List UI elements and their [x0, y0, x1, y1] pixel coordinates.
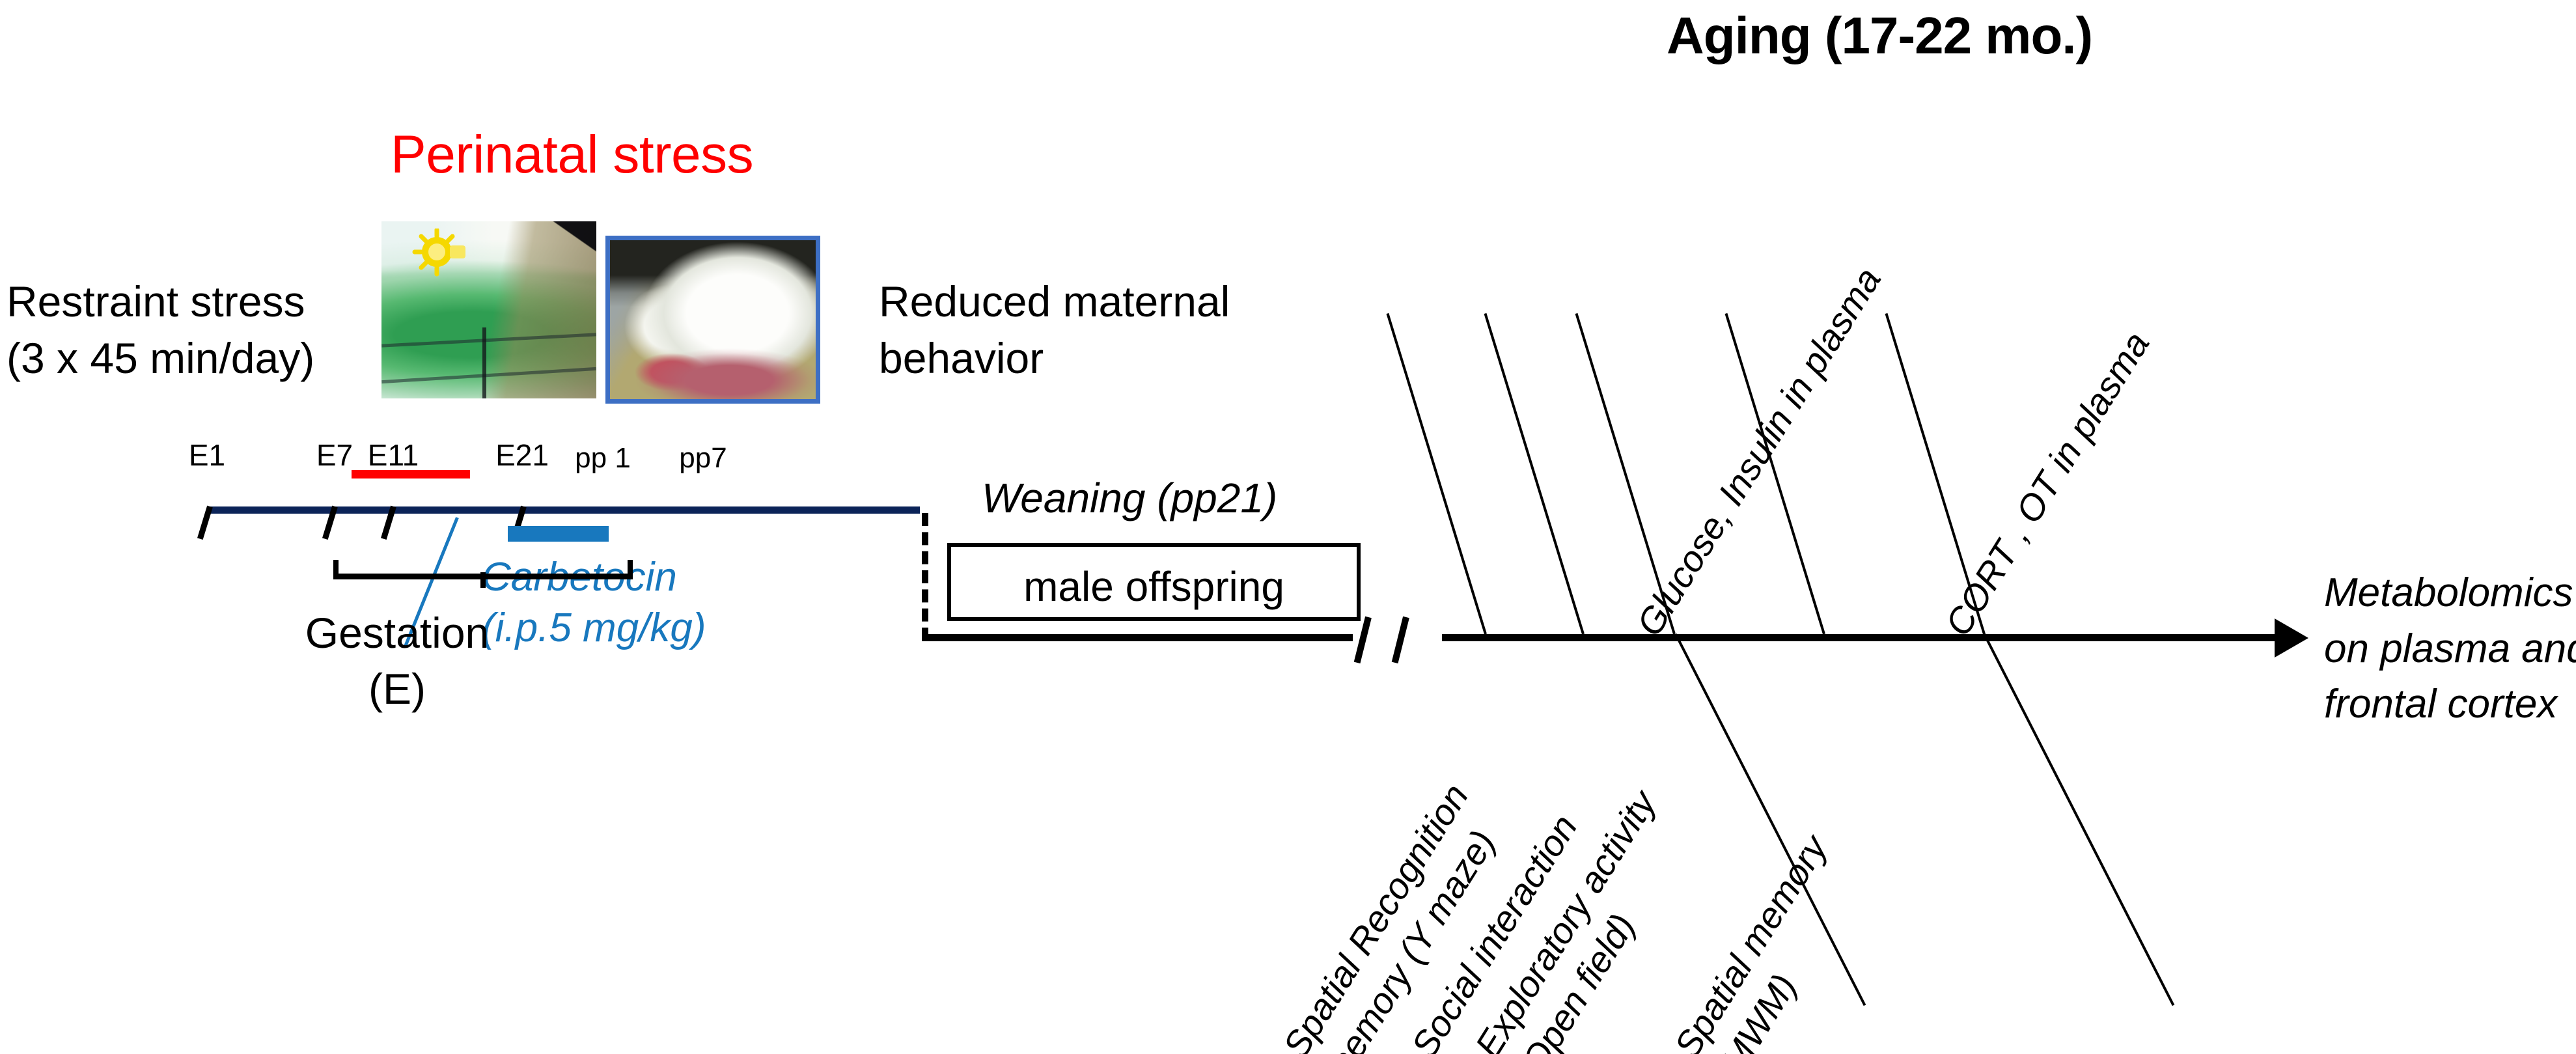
leader-line-cort-ot — [1983, 633, 2174, 1006]
gestation-label: Gestation (E) — [247, 605, 547, 717]
experimental-timeline-figure: Aging (17-22 mo.) Perinatal stress Restr… — [0, 0, 2576, 1054]
leader-line-spatial-recognition — [1387, 313, 1487, 635]
leader-line-social-interaction — [1484, 313, 1585, 635]
aging-phase-title: Aging (17-22 mo.) — [1667, 5, 2092, 66]
axis-break-mark-2 — [1392, 617, 1409, 663]
arrow-head-icon — [2275, 618, 2308, 658]
male-offspring-label: male offspring — [951, 562, 1357, 612]
restraint-stress-caption: Restraint stress (3 x 45 min/day) — [7, 273, 314, 387]
weaning-dashed-connector — [922, 513, 928, 641]
metabolomics-outcome-label: Metabolomics on plasma and frontal corte… — [2324, 565, 2576, 732]
aging-timeline-arrow — [1442, 634, 2282, 641]
restraint-stress-period-bar — [352, 470, 470, 478]
tick-label-pp7: pp7 — [651, 441, 755, 475]
tick-e1 — [197, 506, 213, 540]
weaning-label: Weaning (pp21) — [982, 474, 1277, 523]
annotation-glucose-insulin: Glucose, Insulin in plasma — [1626, 259, 1892, 645]
annotation-cort-ot: CORT , OT in plasma — [1935, 323, 2160, 645]
tick-label-e1: E1 — [155, 437, 259, 473]
gestation-timeline-axis — [207, 506, 920, 514]
gestation-bracket — [333, 560, 633, 579]
perinatal-stress-title: Perinatal stress — [391, 124, 753, 187]
annotation-spatial-memory: Spatial memory (MWM) — [1664, 827, 1879, 1054]
tick-label-pp1: pp 1 — [551, 441, 655, 475]
reduced-maternal-behavior-caption: Reduced maternal behavior — [879, 273, 1230, 387]
sun-icon — [409, 229, 472, 279]
male-offspring-box: male offspring — [947, 543, 1361, 621]
tick-label-e11: E11 — [341, 437, 445, 473]
axis-break-mark-1 — [1354, 617, 1372, 663]
nursing-dam-photo — [605, 236, 820, 404]
carbetocin-treatment-bar — [508, 526, 609, 542]
offspring-baseline-rail — [922, 634, 1353, 641]
restraint-tube-photo — [381, 221, 596, 398]
